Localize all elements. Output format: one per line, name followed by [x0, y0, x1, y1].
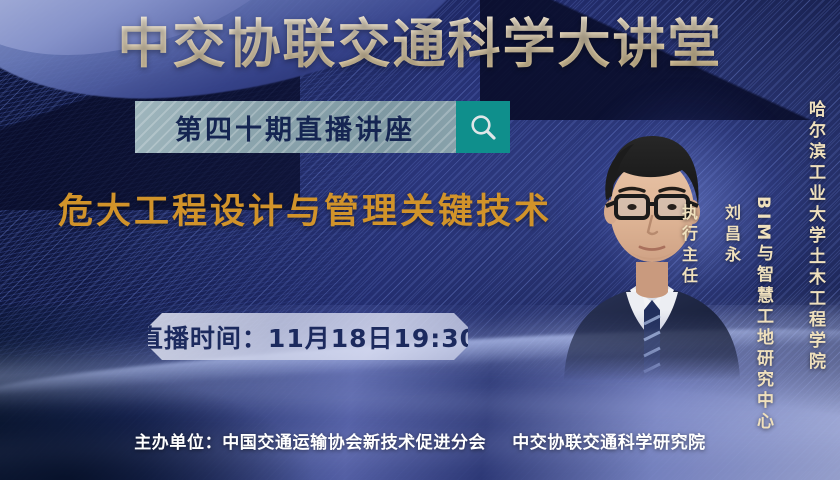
speaker-name-title: 刘昌永 执行主任: [657, 108, 762, 288]
lecture-title: 危大工程设计与管理关键技术: [58, 190, 552, 235]
footer-organizers: 主办单位：中国交通运输协会新技术促进分会中交协联交通科学研究院: [0, 428, 840, 453]
speaker-name: 刘昌永: [722, 204, 741, 267]
search-icon: [468, 112, 498, 142]
broadcast-time-text: 直播时间：11月18日19:30: [138, 319, 478, 355]
page-title: 中交协联交通科学大讲堂: [0, 14, 840, 76]
search-icon-button[interactable]: [456, 101, 510, 153]
speaker-role: 执行主任: [679, 204, 698, 288]
poster-canvas: 中交协联交通科学大讲堂 第四十期直播讲座 危大工程设计与管理关键技术 直播时间：…: [0, 0, 840, 480]
episode-label: 第四十期直播讲座: [135, 101, 455, 153]
footer-organizer-2: 中交协联交通科学研究院: [512, 433, 706, 453]
speaker-affiliation: 哈尔滨工业大学土木工程学院: [803, 100, 828, 373]
footer-prefix: 主办单位：: [134, 433, 222, 453]
footer-organizer-1: 中国交通运输协会新技术促进分会: [222, 433, 486, 453]
episode-banner: 第四十期直播讲座: [135, 101, 510, 153]
broadcast-time-badge: 直播时间：11月18日19:30: [148, 313, 468, 360]
